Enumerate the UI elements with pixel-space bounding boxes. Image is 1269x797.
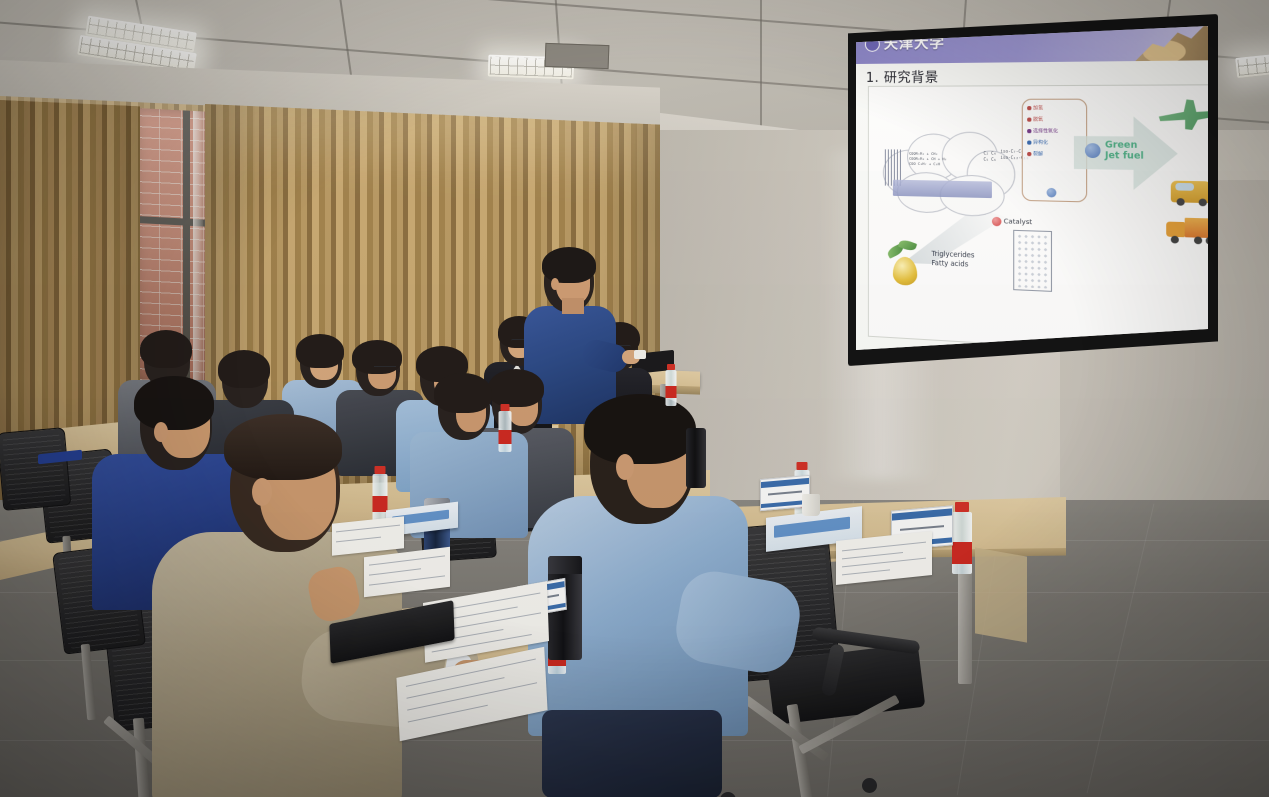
ceiling-light-fixture-4	[1235, 50, 1269, 78]
presenter-neck	[562, 298, 584, 314]
water-bottle[interactable]	[950, 502, 974, 574]
truck-icon	[1166, 217, 1208, 242]
projection-screen[interactable]: 天津大学 1. 研究背景 COOR₁R₂ + CH₂ C	[856, 26, 1208, 350]
slide-title: 1. 研究背景	[866, 66, 939, 86]
table-modesty-panel	[975, 547, 1027, 642]
car-icon	[1171, 181, 1208, 204]
eyeglasses-icon	[374, 366, 396, 372]
product-particle-icon	[1085, 143, 1101, 158]
seminar-room-photo: 天津大学 1. 研究背景 COOR₁R₂ + CH₂ C	[0, 0, 1269, 797]
vacuum-thermos-small[interactable]	[686, 428, 706, 488]
water-bottle[interactable]	[497, 404, 513, 452]
zeolite-structure-icon	[1013, 230, 1052, 292]
trousers	[542, 710, 722, 797]
table-leg	[958, 556, 972, 684]
catalyst-dot-icon	[992, 217, 1002, 227]
presentation-slide: 天津大学 1. 研究背景 COOR₁R₂ + CH₂ C	[856, 26, 1208, 350]
presenter-remote	[634, 350, 646, 359]
reaction-cloud-diagram: COOR₁R₂ + CH₂ COOR₂R₃ + CH + H₂ COO C₃H₇…	[879, 129, 1015, 217]
catalyst-particle-icon	[1047, 188, 1057, 198]
chair-caster	[862, 778, 877, 793]
ceiling-air-vent	[545, 43, 610, 69]
catalyst-label: Catalyst	[1004, 217, 1033, 226]
campus-building-photo	[1135, 26, 1208, 61]
paper-cup[interactable]	[802, 494, 820, 516]
short-chain-labels: C₂ C₄C₅ C₆	[983, 150, 996, 163]
airplane-icon	[1155, 96, 1208, 135]
reaction-step-item: 脱氧	[1027, 116, 1086, 123]
reaction-step-item: 选择性氧化	[1027, 128, 1086, 135]
catalyst-surface-glyph	[893, 180, 992, 198]
water-bottle[interactable]	[664, 364, 678, 406]
feedstock-label: Triglycerides Fatty acids	[932, 250, 975, 270]
oil-seed-illustration	[887, 240, 921, 286]
reaction-step-item: 加氢	[1027, 105, 1086, 111]
thermos-lid	[548, 556, 582, 574]
oil-droplet-icon	[893, 256, 917, 285]
slide-content-area: COOR₁R₂ + CH₂ COOR₂R₃ + CH + H₂ COO C₃H₇…	[868, 84, 1208, 350]
green-jet-fuel-label: Green Jet fuel	[1105, 141, 1144, 162]
